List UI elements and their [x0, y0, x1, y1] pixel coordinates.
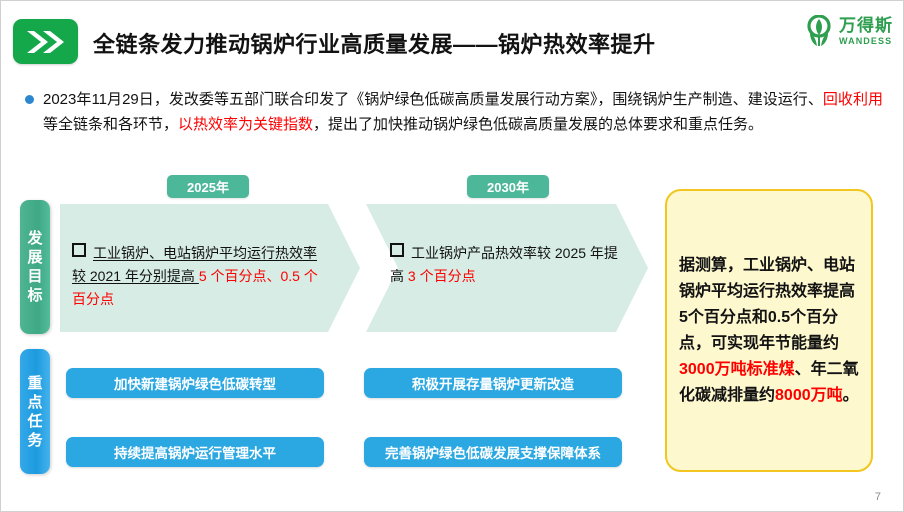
- body-text: 。: [843, 387, 859, 404]
- task-box[interactable]: 持续提高锅炉运行管理水平: [66, 437, 324, 467]
- slide-header: 全链条发力推动锅炉行业高质量发展——锅炉热效率提升 万得斯 WANDESS: [1, 1, 904, 79]
- sidebar-item-label-char: 务: [27, 431, 42, 450]
- estimate-callout-text: 据测算，工业锅炉、电站锅炉平均运行热效率提高5个百分点和0.5个百分点，可实现年…: [667, 253, 871, 409]
- checkbox-square-icon: [390, 243, 404, 257]
- year-label-2025: 2025年: [167, 175, 249, 198]
- intro-bullet: 2023年11月29日，发改委等五部门联合印发了《锅炉绿色低碳高质量发展行动方案…: [25, 87, 883, 137]
- task-box[interactable]: 积极开展存量锅炉更新改造: [364, 368, 622, 398]
- wandess-leaf-logo-icon: [804, 15, 834, 47]
- year-label-2030: 2030年: [467, 175, 549, 198]
- sidebar-item-label-char: 发: [27, 229, 42, 248]
- brand-logo: 万得斯 WANDESS: [804, 15, 893, 47]
- highlighted-text: 8000万吨: [775, 387, 843, 404]
- slide: 全链条发力推动锅炉行业高质量发展——锅炉热效率提升 万得斯 WANDESS 20…: [0, 0, 904, 512]
- task-box[interactable]: 加快新建锅炉绿色低碳转型: [66, 368, 324, 398]
- sidebar-item-label-char: 目: [27, 267, 42, 286]
- sidebar-item-development-goals[interactable]: 发展目标: [20, 200, 50, 334]
- page-number: 7: [875, 491, 881, 503]
- highlighted-text: 回收利用: [823, 91, 883, 108]
- checkbox-square-icon: [72, 243, 86, 257]
- timeline-text-2030: 工业锅炉产品热效率较 2025 年提高 3 个百分点: [390, 242, 630, 288]
- logo-chinese-name: 万得斯: [839, 17, 893, 34]
- body-text: 2023年11月29日，发改委等五部门联合印发了《锅炉绿色低碳高质量发展行动方案…: [43, 91, 823, 108]
- body-text: 据测算，工业锅炉、电站锅炉平均运行热效率提高5个百分点和0.5个百分点，可实现年…: [679, 257, 855, 352]
- page-title: 全链条发力推动锅炉行业高质量发展——锅炉热效率提升: [93, 27, 656, 59]
- logo-english-name: WANDESS: [839, 37, 893, 46]
- sidebar-item-label-char: 点: [27, 393, 42, 412]
- highlighted-text: 以热效率为关键指数: [178, 116, 313, 133]
- sidebar-item-key-tasks[interactable]: 重点任务: [20, 349, 50, 474]
- task-box[interactable]: 完善锅炉绿色低碳发展支撑保障体系: [364, 437, 622, 467]
- sidebar-item-label-char: 展: [27, 248, 42, 267]
- sidebar-item-label-char: 重: [27, 374, 42, 393]
- timeline-text-2025: 工业锅炉、电站锅炉平均运行热效率较 2021 年分别提高 5 个百分点、0.5 …: [72, 242, 330, 311]
- highlighted-text: 3000万吨标准煤: [679, 361, 795, 378]
- sidebar-item-label-char: 标: [27, 286, 42, 305]
- sidebar-item-label-char: 任: [27, 412, 42, 431]
- body-text: 等全链条和各环节，: [43, 116, 178, 133]
- double-chevron-right-icon: [13, 19, 78, 64]
- estimate-callout-box: 据测算，工业锅炉、电站锅炉平均运行热效率提高5个百分点和0.5个百分点，可实现年…: [665, 189, 873, 472]
- timeline-band: 工业锅炉、电站锅炉平均运行热效率较 2021 年分别提高 5 个百分点、0.5 …: [60, 204, 648, 332]
- bullet-dot-icon: [25, 95, 34, 104]
- intro-paragraph: 2023年11月29日，发改委等五部门联合印发了《锅炉绿色低碳高质量发展行动方案…: [43, 87, 883, 137]
- body-text: ，提出了加快推动锅炉绿色低碳高质量发展的总体要求和重点任务。: [313, 116, 763, 133]
- highlighted-text: 3 个百分点: [408, 268, 476, 284]
